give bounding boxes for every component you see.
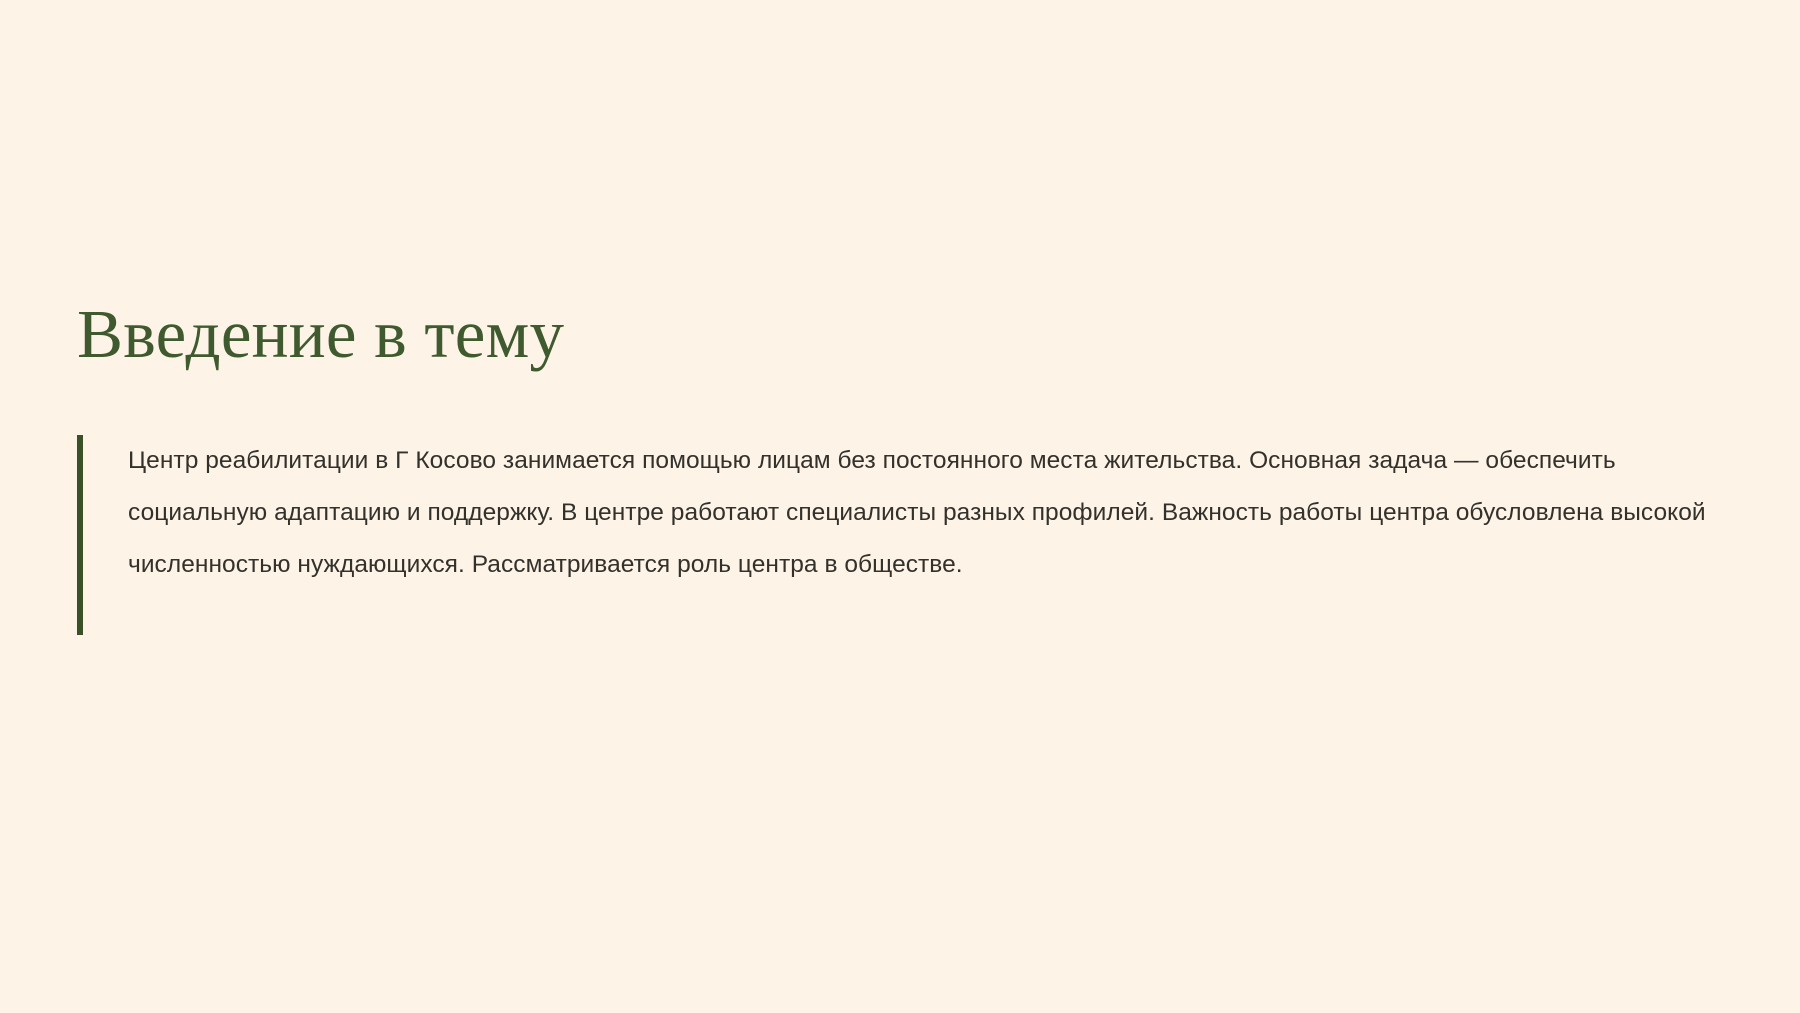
accent-bar [77, 435, 83, 635]
body-paragraph: Центр реабилитации в Г Косово занимается… [128, 435, 1717, 591]
slide-canvas: Введение в тему Центр реабилитации в Г К… [0, 0, 1800, 1013]
page-title: Введение в тему [77, 296, 1717, 373]
slide-content-area: Введение в тему Центр реабилитации в Г К… [77, 296, 1717, 591]
body-content-block: Центр реабилитации в Г Косово занимается… [77, 435, 1717, 591]
